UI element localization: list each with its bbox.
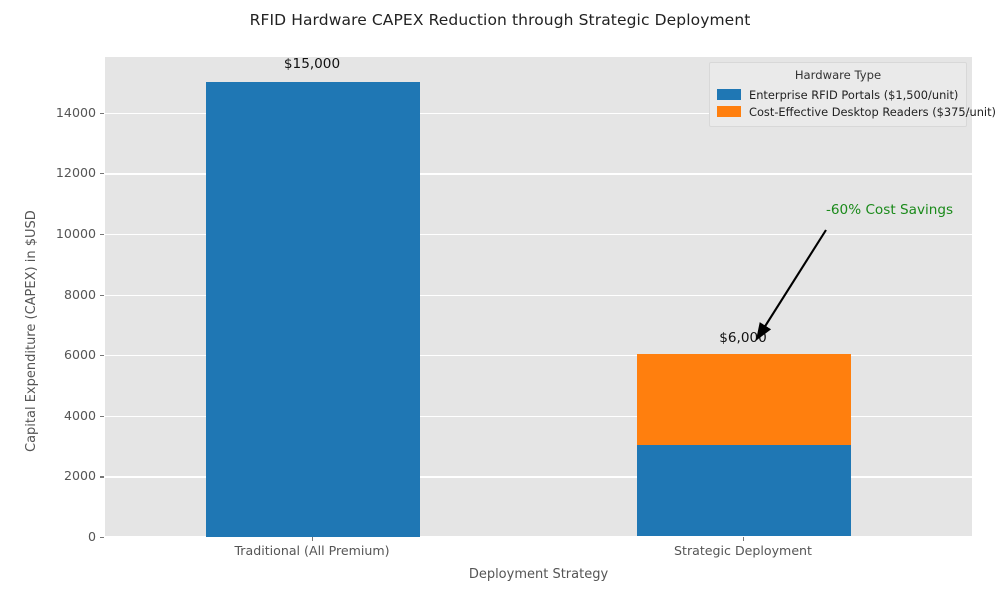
chart-figure: RFID Hardware CAPEX Reduction through St… bbox=[0, 0, 1000, 600]
bar-value-label-traditional: $15,000 bbox=[222, 56, 402, 72]
y-tick-label-6000: 6000 bbox=[26, 349, 96, 362]
bar-strategic-portals[interactable] bbox=[637, 445, 851, 536]
bar-traditional-portals[interactable] bbox=[206, 82, 420, 537]
chart-legend: Hardware Type Enterprise RFID Portals ($… bbox=[709, 62, 967, 127]
y-tick-label-12000: 12000 bbox=[26, 167, 96, 180]
legend-label-portals: Enterprise RFID Portals ($1,500/unit) bbox=[749, 88, 958, 102]
x-tick-mark-strategic bbox=[743, 537, 744, 541]
legend-swatch-readers bbox=[717, 106, 741, 117]
y-tick-mark-12000 bbox=[100, 173, 104, 174]
y-tick-mark-2000 bbox=[100, 476, 104, 477]
x-tick-label-strategic: Strategic Deployment bbox=[623, 543, 863, 558]
x-tick-mark-traditional bbox=[312, 537, 313, 541]
legend-item-portals[interactable]: Enterprise RFID Portals ($1,500/unit) bbox=[717, 86, 959, 103]
y-tick-label-14000: 14000 bbox=[26, 107, 96, 120]
x-axis-label: Deployment Strategy bbox=[105, 567, 972, 582]
y-tick-label-0: 0 bbox=[26, 531, 96, 544]
y-tick-label-8000: 8000 bbox=[26, 289, 96, 302]
legend-item-readers[interactable]: Cost-Effective Desktop Readers ($375/uni… bbox=[717, 103, 959, 120]
y-tick-mark-14000 bbox=[100, 113, 104, 114]
legend-title: Hardware Type bbox=[717, 68, 959, 82]
y-tick-mark-10000 bbox=[100, 234, 104, 235]
chart-title: RFID Hardware CAPEX Reduction through St… bbox=[0, 11, 1000, 29]
y-tick-mark-4000 bbox=[100, 416, 104, 417]
y-tick-mark-0 bbox=[100, 537, 104, 538]
bar-value-label-strategic: $6,000 bbox=[653, 330, 833, 346]
y-tick-label-10000: 10000 bbox=[26, 228, 96, 241]
x-tick-label-traditional: Traditional (All Premium) bbox=[192, 543, 432, 558]
y-tick-label-4000: 4000 bbox=[26, 410, 96, 423]
cost-savings-annotation: -60% Cost Savings bbox=[826, 202, 953, 218]
legend-label-readers: Cost-Effective Desktop Readers ($375/uni… bbox=[749, 105, 996, 119]
y-tick-mark-8000 bbox=[100, 295, 104, 296]
bar-strategic-readers[interactable] bbox=[637, 354, 851, 445]
plot-area bbox=[105, 57, 972, 537]
y-tick-label-2000: 2000 bbox=[26, 470, 96, 483]
legend-swatch-portals bbox=[717, 89, 741, 100]
y-tick-mark-6000 bbox=[100, 355, 104, 356]
